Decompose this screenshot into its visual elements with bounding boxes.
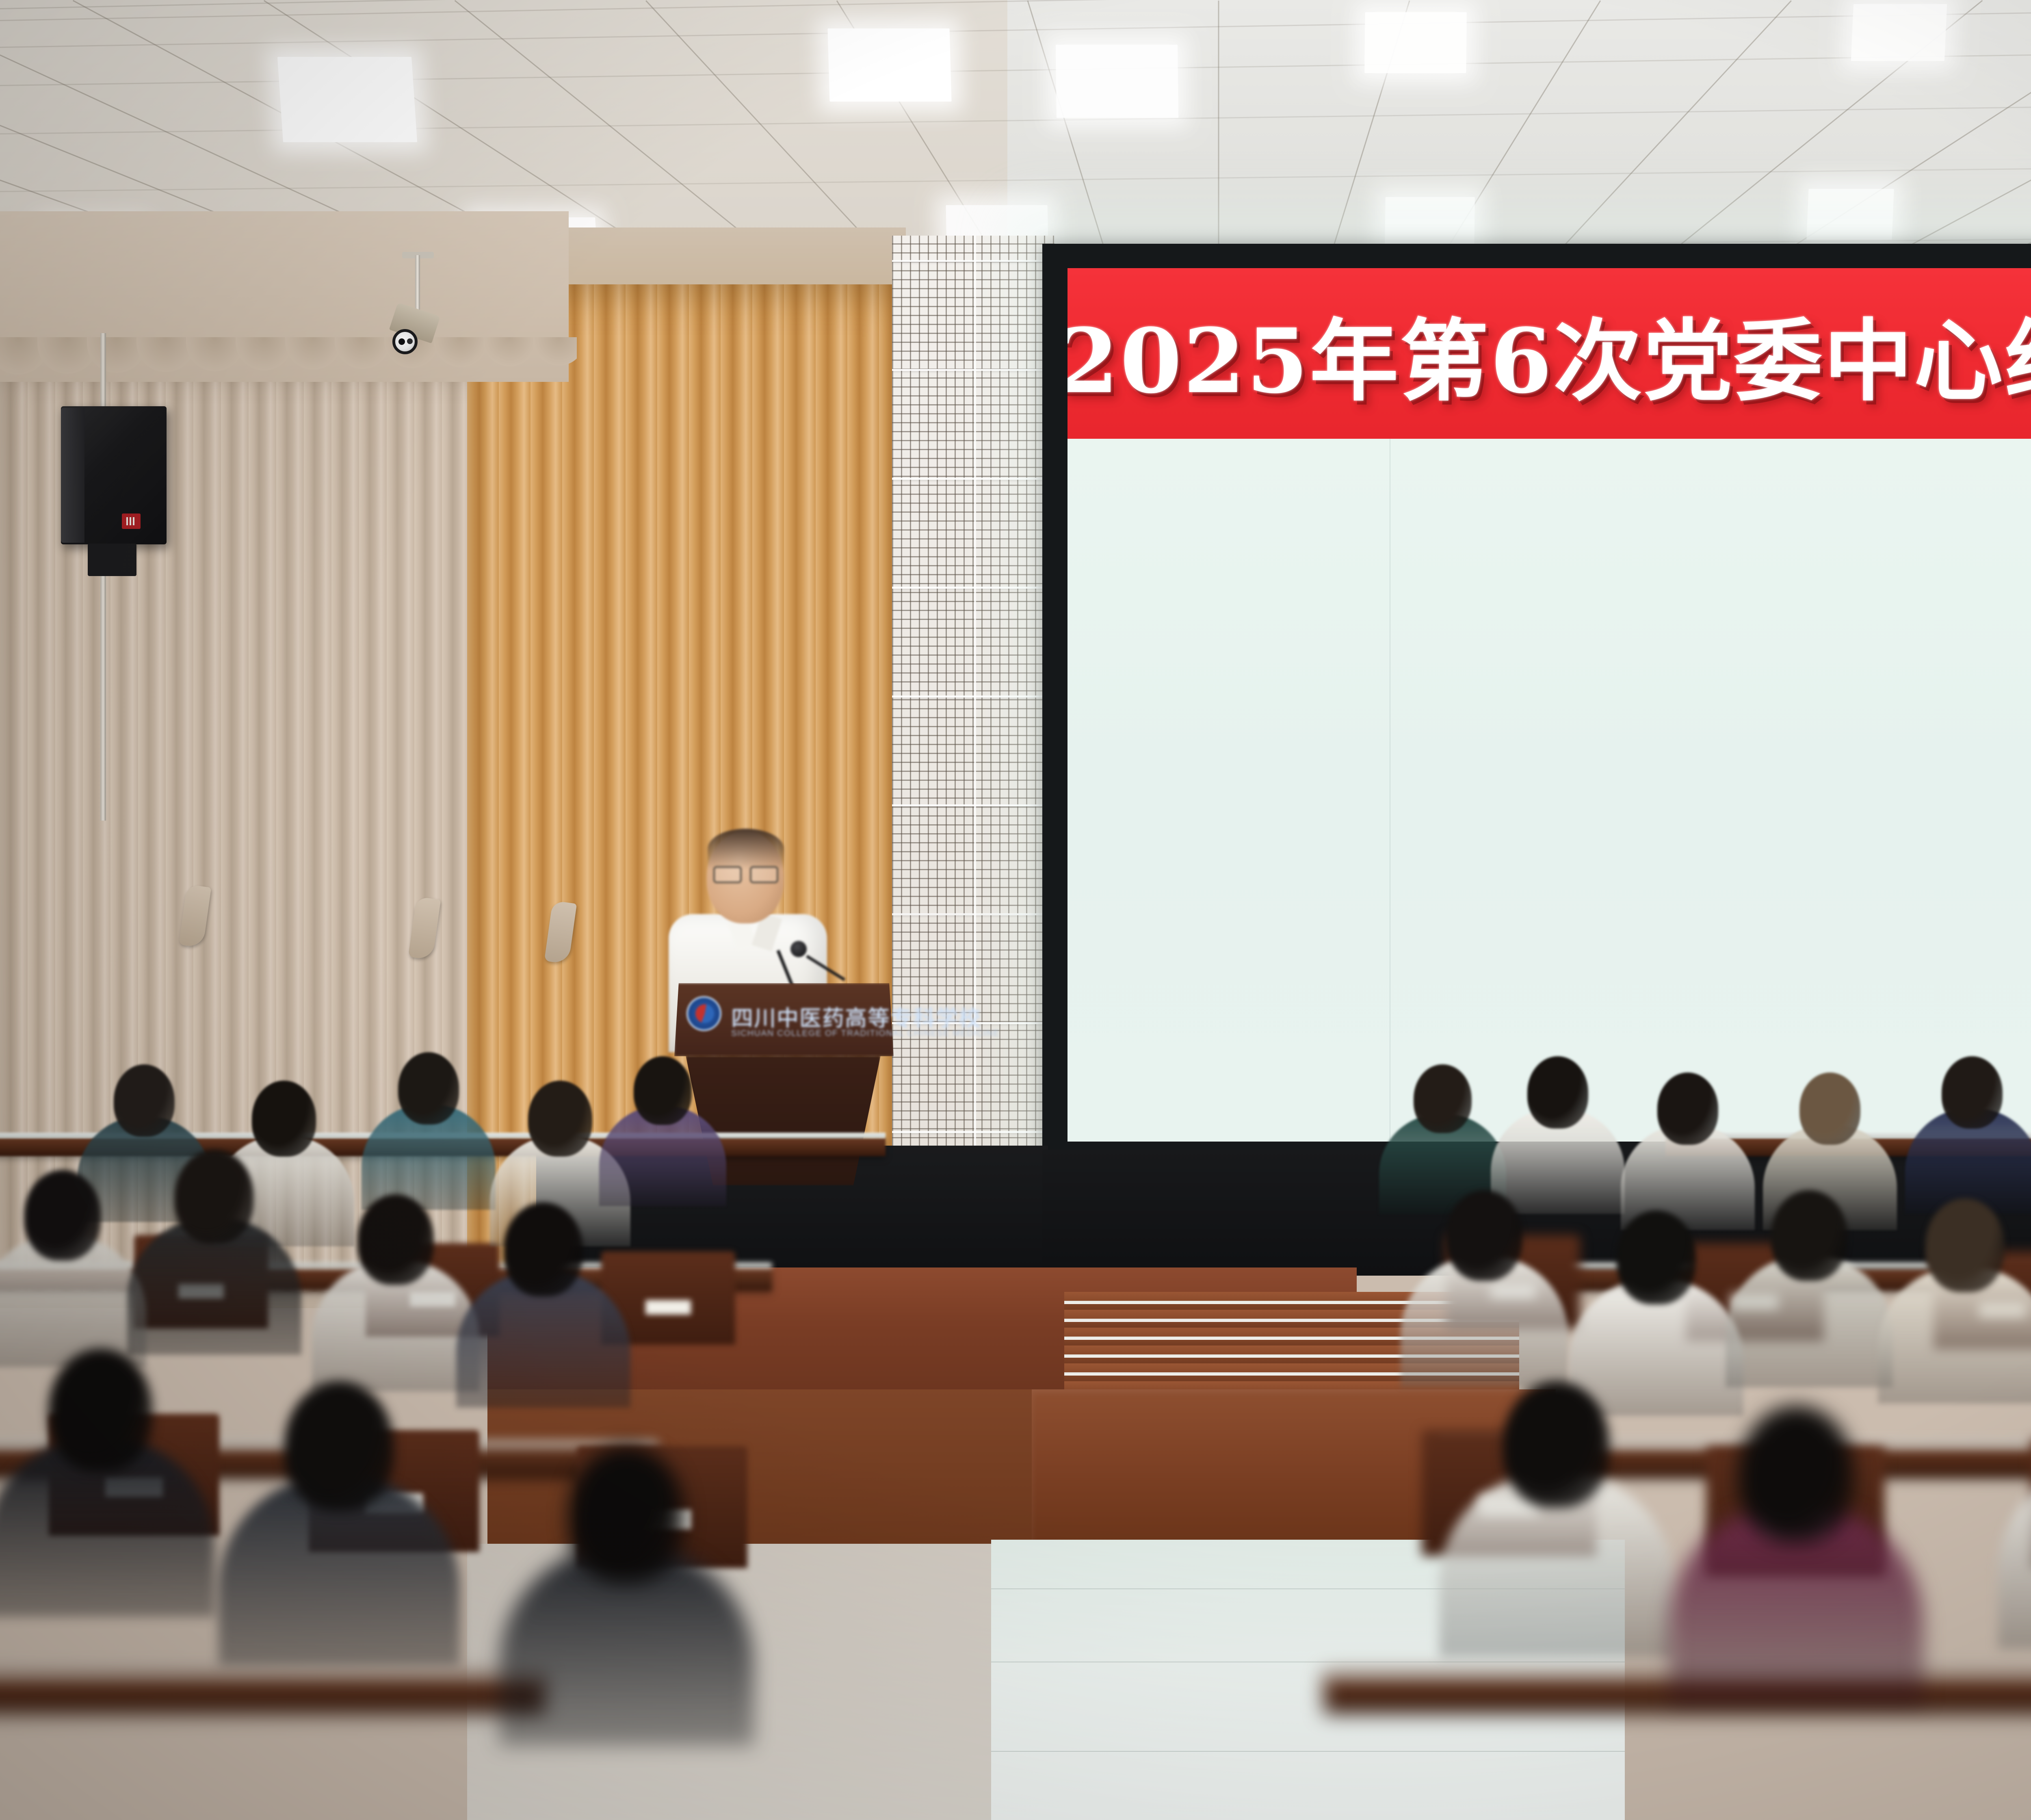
valance-scallop [236,337,292,370]
attendee-head [1925,1198,2005,1292]
seat-name-card [645,1300,691,1315]
ceiling-light-panel [1056,45,1178,118]
speaker-brand-badge [122,513,141,529]
wall-speaker-side [61,408,84,543]
valance-scallop [483,337,536,366]
ceiling-light-panel [827,28,951,102]
attendee-head [252,1081,316,1157]
attendee-head [398,1052,459,1124]
valance-scallop [335,337,390,369]
attendee-head [49,1349,152,1472]
attendee-head [1771,1190,1847,1281]
ceiling-light-panel [1806,189,1894,240]
attendee-head [114,1064,175,1137]
desk-surface [0,1669,544,1675]
ceiling-light-panel [277,57,417,142]
banner-title: 2025年第6次党委中心组学习（扩大）会 [1067,268,2031,439]
valance-scallop [434,337,487,367]
attendee-head [1799,1072,1860,1145]
presenter-glasses-icon [713,866,778,880]
attendee-head [1657,1072,1718,1145]
attendee-head [284,1381,394,1511]
attendee-shoulders [1998,1459,2031,1649]
valance-scallops [0,333,577,382]
attendee-head [1739,1406,1854,1543]
photo-canvas: 2025年第6次党委中心组学习（扩大）会 四川中医药高等专科学校 SICHUAN… [0,0,2031,1820]
attendee-head [528,1081,592,1157]
attendee-head [504,1202,583,1296]
camera-lens-icon [392,329,418,354]
attendee-head [634,1056,692,1125]
attendee-head [1527,1056,1588,1129]
valance-scallop [285,337,341,370]
valance-scallop [186,337,244,371]
camera-pole [415,255,420,316]
attendee-head [1617,1211,1696,1304]
attendee-head [1414,1064,1472,1133]
desk-row [0,1674,544,1713]
attendee-head [24,1170,101,1261]
audience [0,934,2031,1820]
ceiling-light-panel [1364,12,1467,73]
presenter-hair [708,829,784,869]
ceiling-light-panel [1851,4,1947,61]
attendee-head [175,1150,254,1244]
attendee-head [569,1446,684,1584]
ceiling-light-panel [1385,197,1475,250]
attendee-head [1942,1056,2003,1129]
speaker-mount-bracket [88,544,136,576]
attendee-head [357,1194,434,1285]
attendee-head [1503,1381,1610,1508]
attendee-head [1446,1190,1522,1281]
valance-scallop [533,337,577,366]
